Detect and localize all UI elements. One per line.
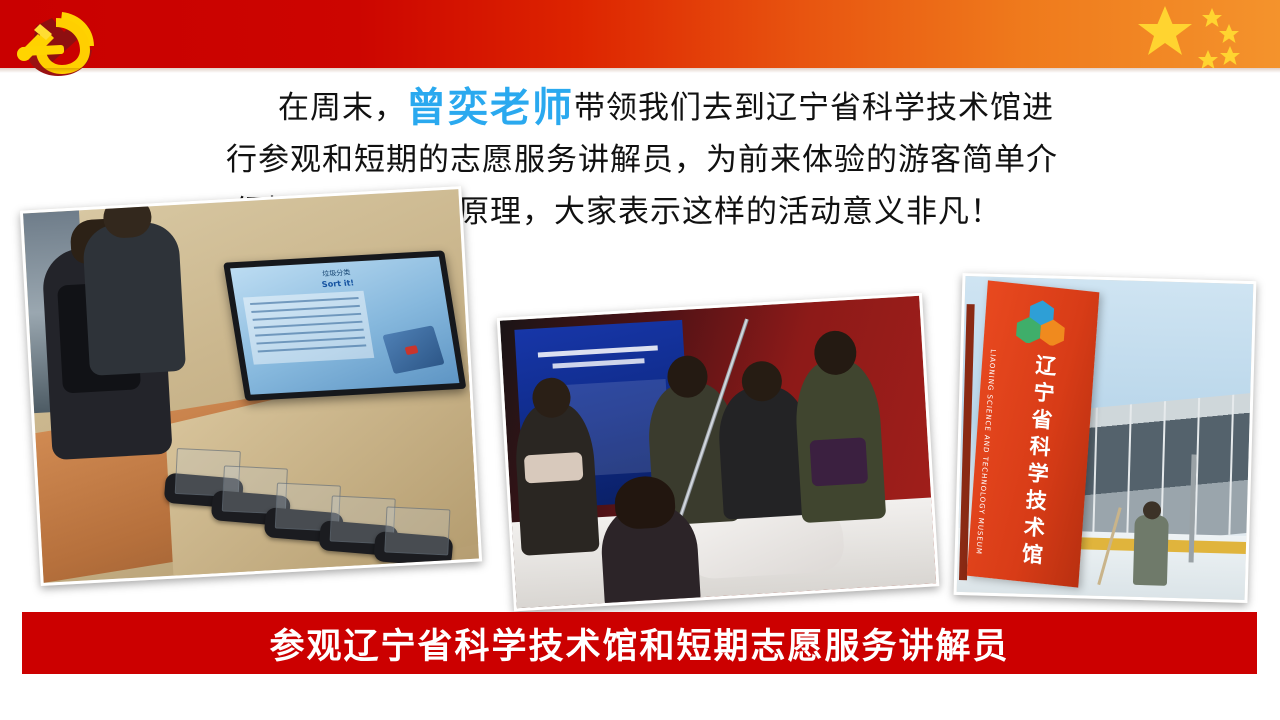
person-background — [82, 221, 186, 376]
china-flag-stars-icon — [1120, 0, 1270, 68]
photo-students-sorting-exhibit: 垃圾分类 Sort it! — [20, 186, 482, 586]
museum-sign-pillar: LIAONING SCIENCE AND TECHNOLOGY MUSEUM 辽… — [967, 280, 1100, 587]
headline-prefix: 在周末， — [278, 90, 406, 126]
headline-line-2: 行参观和短期的志愿服务讲解员，为前来体验的游客简单介 — [226, 134, 1268, 186]
museum-logo-icon — [1014, 296, 1069, 347]
museum-sign-cn: 辽宁省科学技术馆 — [1014, 351, 1065, 570]
photo-museum-entrance-sign: LIAONING SCIENCE AND TECHNOLOGY MUSEUM 辽… — [954, 273, 1257, 603]
top-banner — [0, 0, 1280, 68]
headline-teacher-name: 曾奕老师 — [406, 85, 574, 131]
banner-shadow — [0, 68, 1280, 73]
photo-cpr-demonstration — [497, 293, 940, 612]
bottom-caption-bar: 参观辽宁省科学技术馆和短期志愿服务讲解员 — [22, 612, 1257, 674]
slide-root: 在周末，曾奕老师带领我们去到辽宁省科学技术馆进 行参观和短期的志愿服务讲解员，为… — [0, 0, 1280, 720]
exhibit-display-screen: 垃圾分类 Sort it! — [223, 250, 466, 401]
headline-line-1: 在周末，曾奕老师带领我们去到辽宁省科学技术馆进 — [278, 82, 1268, 134]
caption-text: 参观辽宁省科学技术馆和短期志愿服务讲解员 — [269, 618, 1009, 669]
headline-suffix: 带领我们去到辽宁省科学技术馆进 — [574, 90, 1054, 126]
cpc-hammer-sickle-emblem-icon — [6, 2, 110, 86]
worker-figure — [1133, 515, 1169, 586]
